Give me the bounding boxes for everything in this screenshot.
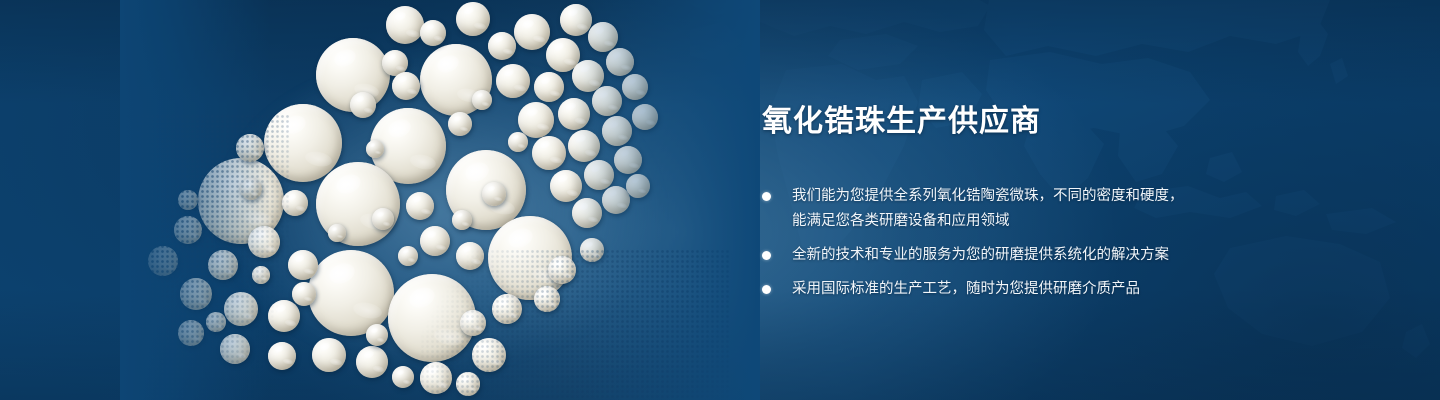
page-title: 氧化锆珠生产供应商 bbox=[762, 104, 1282, 140]
hero-banner: 氧化锆珠生产供应商 我们能为您提供全系列氧化锆陶瓷微珠，不同的密度和硬度， 能满… bbox=[0, 0, 1440, 400]
photo-edge-fade-right bbox=[570, 0, 760, 400]
photo-edge-fade-left bbox=[120, 0, 270, 400]
list-item-line-1: 采用国际标准的生产工艺，随时为您提供研磨介质产品 bbox=[792, 281, 1140, 297]
feature-list: 我们能为您提供全系列氧化锆陶瓷微珠，不同的密度和硬度， 能满足您各类研磨设备和应… bbox=[762, 184, 1282, 302]
list-item-line-1: 我们能为您提供全系列氧化锆陶瓷微珠，不同的密度和硬度， bbox=[792, 188, 1184, 204]
list-item: 我们能为您提供全系列氧化锆陶瓷微珠，不同的密度和硬度， 能满足您各类研磨设备和应… bbox=[762, 184, 1282, 234]
bullet-dot-icon bbox=[762, 192, 771, 201]
list-item: 全新的技术和专业的服务为您的研磨提供系统化的解决方案 bbox=[762, 243, 1282, 268]
list-item-line-1: 全新的技术和专业的服务为您的研磨提供系统化的解决方案 bbox=[792, 247, 1169, 263]
bullet-dot-icon bbox=[762, 251, 771, 260]
bullet-dot-icon bbox=[762, 285, 771, 294]
zirconia-beads-photo bbox=[120, 0, 730, 400]
banner-copy: 氧化锆珠生产供应商 我们能为您提供全系列氧化锆陶瓷微珠，不同的密度和硬度， 能满… bbox=[762, 104, 1282, 311]
list-item-line-2: 能满足您各类研磨设备和应用领域 bbox=[792, 209, 1282, 234]
list-item: 采用国际标准的生产工艺，随时为您提供研磨介质产品 bbox=[762, 277, 1282, 302]
